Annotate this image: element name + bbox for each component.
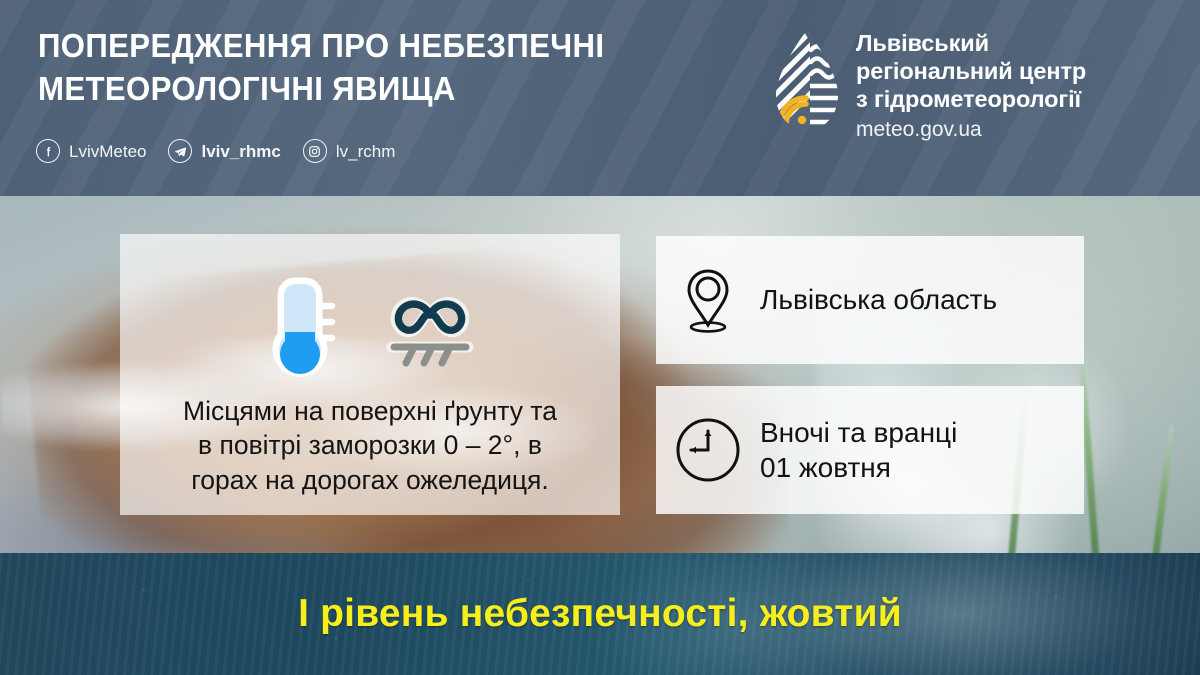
location-card: Львівська область: [656, 236, 1084, 364]
location-icon-wrap: [656, 267, 760, 333]
logo-website[interactable]: meteo.gov.ua: [856, 117, 1086, 143]
instagram-icon: [303, 139, 327, 163]
location-pin-icon: [682, 267, 734, 333]
facebook-icon: [36, 139, 60, 163]
social-link-telegram[interactable]: lviv_rhmc: [168, 139, 280, 163]
social-link-facebook[interactable]: LvivMeteo: [36, 139, 146, 163]
danger-level-text: I рівень небезпечності, жовтий: [0, 592, 1200, 636]
hydromet-droplet-logo-icon: [772, 28, 842, 134]
ice-glaze-icon: [378, 285, 482, 371]
header-bar: ПОПЕРЕДЖЕННЯ ПРО НЕБЕЗПЕЧНІ МЕТЕОРОЛОГІЧ…: [0, 0, 1200, 196]
warning-infographic: ПОПЕРЕДЖЕННЯ ПРО НЕБЕЗПЕЧНІ МЕТЕОРОЛОГІЧ…: [0, 0, 1200, 675]
social-links: LvivMeteo lviv_rhmc lv: [36, 139, 417, 163]
logo-line-2: регіональний центр: [856, 57, 1086, 85]
location-text: Львівська область: [760, 282, 997, 317]
warning-text: Місцями на поверхні ґрунту та в повітрі …: [144, 394, 596, 497]
social-label-telegram: lviv_rhmc: [201, 143, 280, 160]
logo-text-block: Львівський регіональний центр з гідромет…: [856, 28, 1086, 142]
social-label-facebook: LvivMeteo: [69, 143, 146, 160]
clock-icon: [673, 415, 743, 485]
page-title: ПОПЕРЕДЖЕННЯ ПРО НЕБЕЗПЕЧНІ МЕТЕОРОЛОГІЧ…: [38, 26, 708, 112]
logo-line-3: з гідрометеорології: [856, 85, 1086, 113]
warning-card: Місцями на поверхні ґрунту та в повітрі …: [120, 234, 620, 515]
logo-line-1: Львівський: [856, 29, 1086, 57]
danger-level-banner: I рівень небезпечності, жовтий: [0, 553, 1200, 675]
social-link-instagram[interactable]: lv_rchm: [303, 139, 396, 163]
thermometer-icon: [258, 276, 344, 380]
organization-logo[interactable]: Львівський регіональний центр з гідромет…: [772, 28, 1086, 142]
time-card: Вночі та вранці 01 жовтня: [656, 386, 1084, 514]
warning-icons: [258, 276, 482, 380]
time-text: Вночі та вранці 01 жовтня: [760, 415, 957, 486]
clock-icon-wrap: [656, 415, 760, 485]
telegram-icon: [168, 139, 192, 163]
social-label-instagram: lv_rchm: [336, 143, 396, 160]
